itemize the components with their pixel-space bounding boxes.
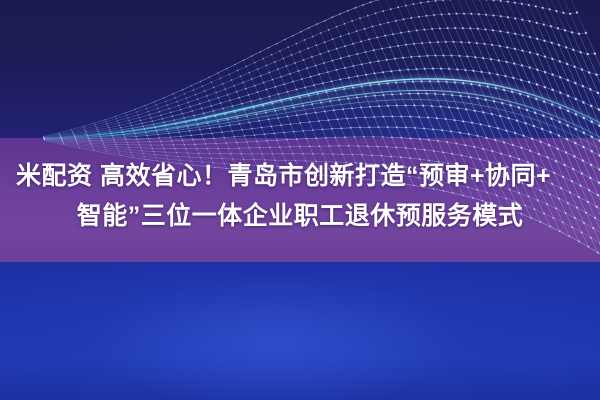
banner-image: 米配资 高效省心！青岛市创新打造“预审+协同+ 智能”三位一体企业职工退休预服务…	[0, 0, 600, 400]
headline-line-2: 智能”三位一体企业职工退休预服务模式	[0, 196, 600, 236]
page-title: 米配资 高效省心！青岛市创新打造“预审+协同+ 智能”三位一体企业职工退休预服务…	[0, 156, 600, 236]
headline-line-1: 米配资 高效省心！青岛市创新打造“预审+协同+	[0, 156, 600, 196]
